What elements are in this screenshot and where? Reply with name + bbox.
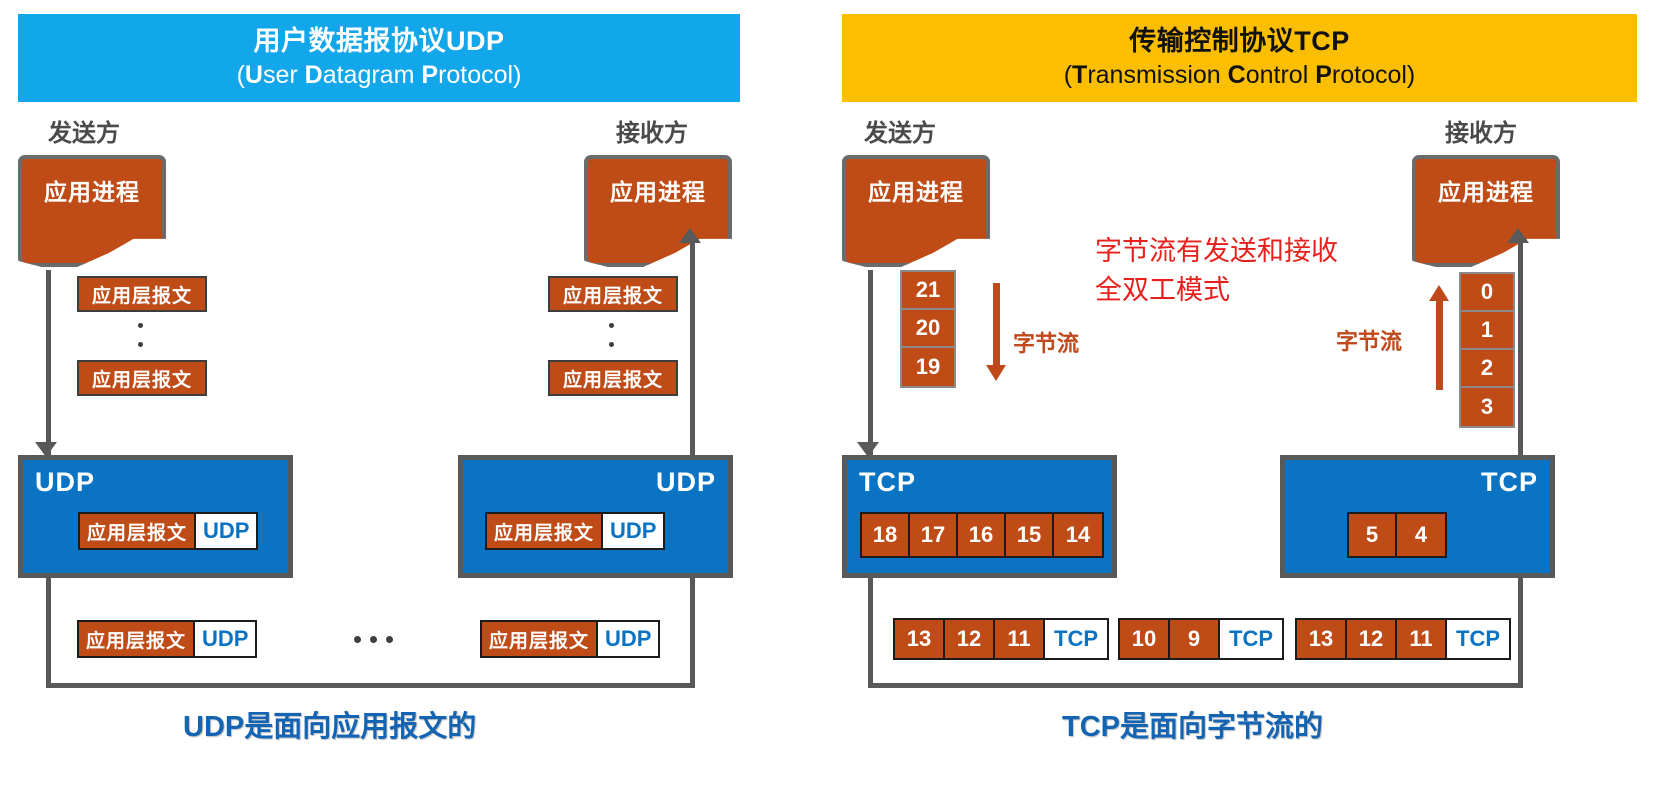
tcp-receiver-stream-byte: 2 (1461, 350, 1513, 388)
tcp-network-path (868, 683, 1523, 688)
tcp-sender-connector (868, 270, 873, 460)
udp-receiver-datagram-payload: 应用层报文 (487, 514, 601, 548)
tcp-sender-label: 发送方 (864, 113, 936, 148)
tcp-sender-stream-bytes: 21 20 19 (900, 270, 956, 388)
diagram-canvas: 用户数据报协议UDP (User Datagram Protocol) 发送方 … (0, 0, 1678, 801)
tcp-sender-stream-label: 字节流 (1013, 326, 1079, 358)
udp-wire-datagram-2: 应用层报文 UDP (480, 620, 660, 658)
tcp-sender-buffer-byte: 16 (958, 514, 1006, 556)
udp-wire-datagram-2-header: UDP (596, 622, 658, 656)
udp-sender-egress-line (46, 578, 51, 688)
tcp-wire-segment-header: TCP (1220, 620, 1282, 658)
tcp-receiver-buffer-byte: 4 (1397, 514, 1445, 556)
udp-sender-connector (46, 270, 51, 460)
udp-receiver-datagram: 应用层报文 UDP (485, 512, 665, 550)
udp-receiver-message-2: 应用层报文 (548, 360, 678, 396)
udp-sender-message-ellipsis-icon (138, 323, 143, 365)
tcp-sender-app-process: 应用进程 (842, 155, 990, 237)
tcp-wire-segment-header: TCP (1447, 620, 1509, 658)
tcp-sender-stream-arrow-icon (993, 283, 1000, 368)
udp-receiver-datagram-header: UDP (601, 514, 663, 548)
udp-sender-app-process: 应用进程 (18, 155, 166, 237)
tcp-sender-buffer-byte: 14 (1054, 514, 1102, 556)
tcp-receiver-connector (1518, 238, 1523, 470)
tcp-wire-segment-3: 13 12 11 TCP (1295, 618, 1511, 660)
udp-sender-protocol-label: UDP (35, 467, 95, 498)
tcp-annotation: 字节流有发送和接收 全双工模式 (1095, 232, 1338, 310)
udp-banner: 用户数据报协议UDP (User Datagram Protocol) (18, 14, 740, 102)
udp-sender-message-2: 应用层报文 (77, 360, 207, 396)
tcp-receiver-ingress-line (1518, 578, 1523, 688)
udp-sender-protocol-box: UDP 应用层报文 UDP (18, 455, 293, 578)
tcp-wire-segment-byte: 11 (1397, 620, 1447, 658)
udp-receiver-protocol-label: UDP (656, 467, 716, 498)
udp-wire-ellipsis-icon (354, 636, 393, 643)
tcp-sender-protocol-box: TCP 18 17 16 15 14 (842, 455, 1117, 578)
tcp-wire-segment-1: 13 12 11 TCP (893, 618, 1109, 660)
udp-sender-datagram-header: UDP (194, 514, 256, 548)
udp-wire-datagram-1: 应用层报文 UDP (77, 620, 257, 658)
tcp-wire-segment-byte: 13 (895, 620, 945, 658)
tcp-sender-protocol-label: TCP (859, 467, 916, 498)
tcp-receiver-stream-arrowhead-icon (1429, 285, 1449, 301)
tcp-annotation-line-1: 字节流有发送和接收 (1095, 232, 1338, 271)
tcp-sender-egress-line (868, 578, 873, 688)
tcp-receiver-app-process-label: 应用进程 (1438, 173, 1534, 207)
tcp-banner-title: 传输控制协议TCP (1129, 26, 1350, 58)
tcp-receiver-stream-label: 字节流 (1336, 324, 1402, 356)
udp-network-path (46, 683, 695, 688)
tcp-annotation-line-2: 全双工模式 (1095, 271, 1338, 310)
tcp-sender-stream-byte: 21 (902, 272, 954, 310)
tcp-wire-segment-byte: 13 (1297, 620, 1347, 658)
tcp-sender-stream-arrowhead-icon (986, 365, 1006, 381)
udp-sender-label: 发送方 (48, 113, 120, 148)
tcp-receiver-app-process: 应用进程 (1412, 155, 1560, 237)
tcp-panel: 传输控制协议TCP (Transmission Control Protocol… (800, 0, 1678, 801)
udp-receiver-app-process: 应用进程 (584, 155, 732, 237)
tcp-banner: 传输控制协议TCP (Transmission Control Protocol… (842, 14, 1637, 102)
tcp-receiver-arrowhead-icon (1507, 228, 1529, 243)
tcp-receiver-protocol-label: TCP (1481, 467, 1538, 498)
udp-sender-datagram: 应用层报文 UDP (78, 512, 258, 550)
udp-wire-datagram-1-payload: 应用层报文 (79, 622, 193, 656)
tcp-receiver-label: 接收方 (1445, 113, 1517, 148)
tcp-sender-stream-byte: 19 (902, 348, 954, 386)
udp-receiver-protocol-box: UDP 应用层报文 UDP (458, 455, 733, 578)
tcp-wire-segment-byte: 10 (1120, 620, 1170, 658)
tcp-wire-segment-byte: 12 (945, 620, 995, 658)
udp-wire-datagram-2-payload: 应用层报文 (482, 622, 596, 656)
udp-panel: 用户数据报协议UDP (User Datagram Protocol) 发送方 … (0, 0, 800, 801)
udp-receiver-arrowhead-icon (679, 228, 701, 243)
tcp-receiver-protocol-box: TCP 5 4 (1280, 455, 1555, 578)
udp-receiver-message-1: 应用层报文 (548, 276, 678, 312)
tcp-wire-segment-header: TCP (1045, 620, 1107, 658)
udp-sender-datagram-payload: 应用层报文 (80, 514, 194, 548)
tcp-wire-segment-byte: 11 (995, 620, 1045, 658)
tcp-sender-buffer-byte: 18 (862, 514, 910, 556)
udp-receiver-ingress-line (690, 578, 695, 688)
udp-receiver-label: 接收方 (616, 113, 688, 148)
tcp-receiver-buffer-bytes: 5 4 (1347, 512, 1447, 558)
tcp-sender-buffer-bytes: 18 17 16 15 14 (860, 512, 1104, 558)
tcp-sender-app-process-label: 应用进程 (868, 173, 964, 207)
tcp-receiver-buffer-byte: 5 (1349, 514, 1397, 556)
tcp-sender-stream-byte: 20 (902, 310, 954, 348)
udp-banner-title: 用户数据报协议UDP (253, 26, 504, 58)
tcp-receiver-stream-byte: 0 (1461, 274, 1513, 312)
tcp-wire-segment-2: 10 9 TCP (1118, 618, 1284, 660)
tcp-receiver-stream-byte: 3 (1461, 388, 1513, 426)
udp-banner-subtitle: (User Datagram Protocol) (237, 61, 522, 91)
udp-sender-app-process-label: 应用进程 (44, 173, 140, 207)
tcp-receiver-stream-bytes: 0 1 2 3 (1459, 272, 1515, 428)
udp-receiver-app-process-label: 应用进程 (610, 173, 706, 207)
tcp-wire-segment-byte: 12 (1347, 620, 1397, 658)
tcp-sender-buffer-byte: 15 (1006, 514, 1054, 556)
tcp-receiver-stream-byte: 1 (1461, 312, 1513, 350)
udp-wire-datagram-1-header: UDP (193, 622, 255, 656)
udp-receiver-message-ellipsis-icon (609, 323, 614, 365)
tcp-sender-buffer-byte: 17 (910, 514, 958, 556)
tcp-receiver-stream-arrow-icon (1436, 298, 1443, 390)
udp-sender-message-1: 应用层报文 (77, 276, 207, 312)
tcp-banner-subtitle: (Transmission Control Protocol) (1064, 61, 1416, 91)
udp-receiver-connector (690, 238, 695, 470)
tcp-footer-caption: TCP是面向字节流的 (1062, 703, 1323, 745)
tcp-wire-segment-byte: 9 (1170, 620, 1220, 658)
udp-footer-caption: UDP是面向应用报文的 (183, 703, 476, 745)
